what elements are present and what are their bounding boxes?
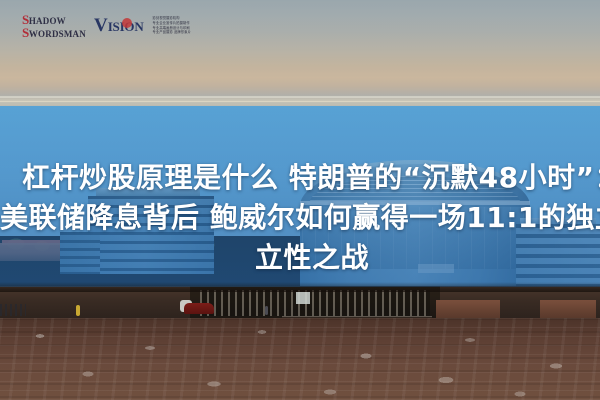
watermark-red-dot-icon [122, 18, 132, 28]
headline-overlay: 杠杆炒股原理是什么 特朗普的“沉默48小时”：揭 美联储降息背后 鲍威尔如何赢得… [0, 158, 600, 278]
pedestrian [265, 306, 268, 315]
watermark-wordmark: S HADOW S WORDSMAN [22, 13, 86, 39]
watermark-shadow-text: HADOW [29, 17, 66, 26]
entrance-colonnade [200, 290, 430, 316]
watermark-chinese-taglines: 影剑视觉摄影机构 专业企业宣传片拍摄制作 专业高端画册设计与印刷 专业产品摄影 … [153, 17, 191, 34]
watermark-swordsman-text: WORDSMAN [29, 30, 86, 39]
sky-cloud-streak [0, 101, 600, 102]
wall-sign [296, 292, 310, 304]
plaza-light-tiles [0, 322, 600, 400]
watermark-v-initial: V [94, 15, 108, 37]
watermark-logo: S HADOW S WORDSMAN V ISION 影剑视觉摄影机构 专业企业… [22, 13, 191, 39]
headline-line-2: 美联储降息背后 鲍威尔如何赢得一场11:1的独立性之 [0, 198, 600, 238]
headline-line-3: 立性之战 [0, 238, 600, 278]
watermark-vision-word: V ISION [94, 15, 144, 37]
watermark-s-initial: S [22, 26, 29, 39]
watermark-line-swordsman: S WORDSMAN [22, 26, 86, 39]
headline-line-1: 杠杆炒股原理是什么 特朗普的“沉默48小时”：揭 [0, 158, 600, 198]
red-car [184, 303, 214, 314]
watermark-tagline: 专业企业宣传片拍摄制作 [153, 22, 191, 26]
pedestrian [76, 305, 80, 316]
watermark-line-shadow: S HADOW [22, 13, 86, 26]
parked-bicycles [0, 304, 26, 316]
sky-cloud-streak [0, 96, 600, 98]
watermark-tagline: 专业产品摄影 品牌形象片 [153, 31, 191, 35]
screenshot-canvas: S HADOW S WORDSMAN V ISION 影剑视觉摄影机构 专业企业… [0, 0, 600, 400]
